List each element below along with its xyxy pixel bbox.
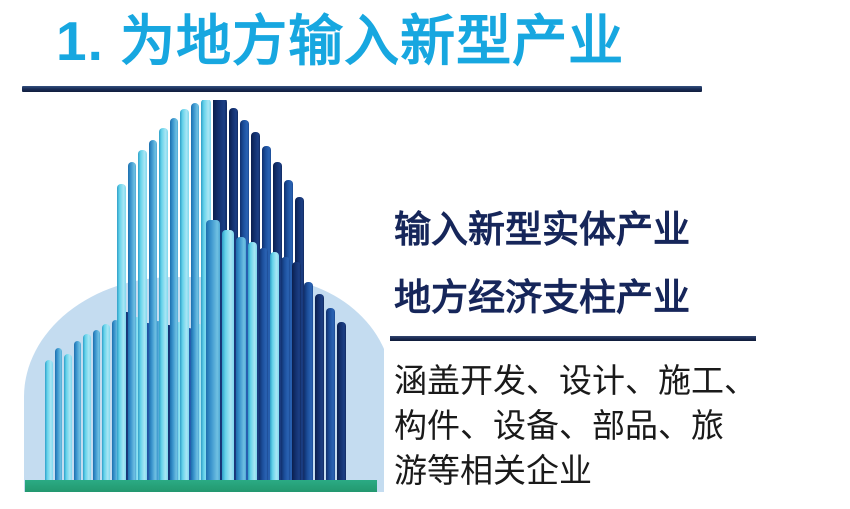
skyline-bar bbox=[64, 354, 72, 480]
page-title: 1. 为地方输入新型产业 bbox=[56, 8, 624, 74]
skyline-bar bbox=[55, 348, 62, 480]
ground-strip bbox=[25, 480, 377, 492]
title-divider bbox=[22, 86, 702, 92]
body-line-2: 构件、设备、部品、旅 bbox=[394, 403, 784, 448]
skyline-bar bbox=[170, 118, 178, 480]
skyline-bar bbox=[74, 341, 81, 480]
skyline-bar bbox=[206, 220, 220, 480]
skyline-bar bbox=[138, 150, 147, 480]
skyline-bar bbox=[159, 128, 168, 480]
skyline-bar bbox=[83, 334, 91, 480]
skyline-bar bbox=[337, 322, 346, 480]
skyline-bar bbox=[270, 252, 279, 480]
skyline-bar bbox=[45, 360, 53, 480]
heading-line-2: 地方经济支柱产业 bbox=[394, 264, 774, 332]
body-line-1: 涵盖开发、设计、施工、 bbox=[394, 358, 784, 403]
body-line-3: 游等相关企业 bbox=[394, 448, 784, 493]
skyline-bar bbox=[117, 184, 126, 480]
skyline-bar bbox=[315, 294, 324, 480]
headings-group: 输入新型实体产业 地方经济支柱产业 bbox=[394, 196, 774, 332]
skyline-bar bbox=[292, 262, 301, 480]
skyline-bar bbox=[281, 257, 290, 480]
heading-divider bbox=[390, 336, 756, 341]
skyline-bar bbox=[304, 282, 313, 480]
skyline-bar bbox=[248, 242, 257, 480]
skyline-bar bbox=[102, 324, 110, 480]
city-skyline-illustration bbox=[18, 100, 384, 500]
skyline-bar bbox=[180, 109, 189, 480]
skyline-bar bbox=[326, 308, 335, 480]
skyline-bar bbox=[93, 330, 100, 480]
slide-canvas: 1. 为地方输入新型产业 输入新型实体产业 地方经济支柱产业 涵盖开发、设计、施… bbox=[0, 0, 850, 509]
skyline-bar bbox=[236, 237, 246, 480]
skyline-bar bbox=[128, 162, 136, 480]
body-text-group: 涵盖开发、设计、施工、 构件、设备、部品、旅 游等相关企业 bbox=[394, 358, 784, 493]
skyline-bar bbox=[191, 103, 199, 480]
skyline-bar bbox=[222, 230, 234, 480]
skyline-bar bbox=[259, 248, 268, 480]
skyline-bar bbox=[149, 140, 157, 480]
heading-line-1: 输入新型实体产业 bbox=[394, 196, 774, 264]
